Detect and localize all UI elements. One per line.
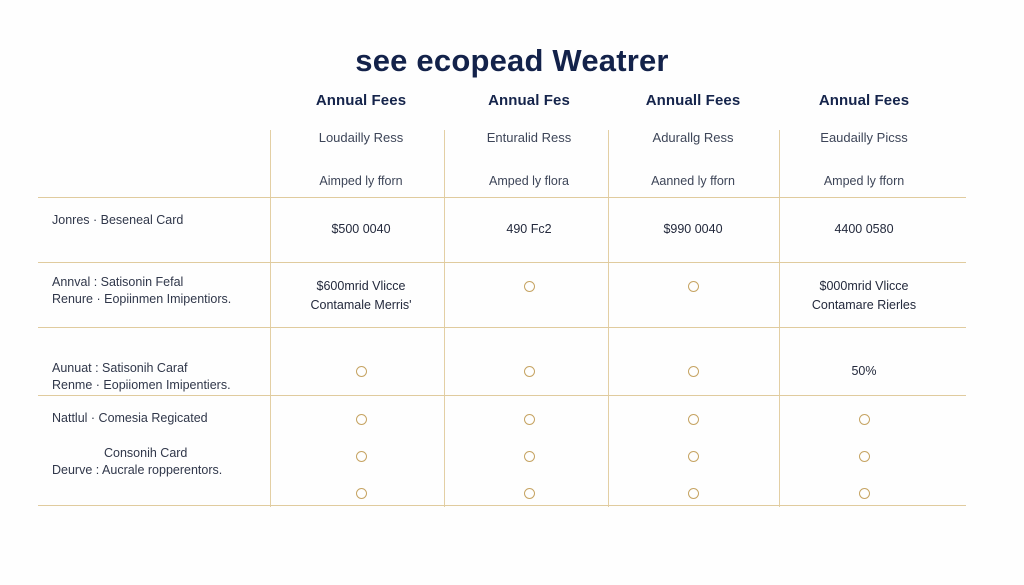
table-cell xyxy=(779,447,949,466)
column-header-subtitle: Eaudailly Picss xyxy=(779,130,949,145)
row-divider-2 xyxy=(38,262,966,263)
circle-marker-icon xyxy=(859,451,870,462)
row-divider-5 xyxy=(38,505,966,506)
row-label-text-line2: Deurve : Aucrale ropperentors. xyxy=(52,462,272,479)
circle-marker-icon xyxy=(356,414,367,425)
table-cell xyxy=(608,484,778,503)
table-cell: $500 0040 xyxy=(276,220,446,239)
row-label-text: Jonres · Beseneal Card xyxy=(52,212,272,229)
table-cell-line1: $000mrid Vlicce xyxy=(779,277,949,296)
column-header-subtitle-secondary: Aanned ly fforn xyxy=(608,174,778,188)
circle-marker-icon xyxy=(688,414,699,425)
column-header-3: Annuall Fees Adurallg Ress Aanned ly ffo… xyxy=(608,92,778,188)
row-label-2: Annval : Satisonin Fefal Renure · Eopiin… xyxy=(52,274,272,308)
column-header-subtitle-secondary: Aimped ly fforn xyxy=(276,174,446,188)
table-cell xyxy=(276,362,446,381)
comparison-table: Annual Fees Loudailly Ress Aimped ly ffo… xyxy=(38,92,966,507)
table-cell: $600mrid Vlicce Contamale Merris' xyxy=(276,277,446,315)
row-divider-1 xyxy=(38,197,966,198)
row-label-3: Aunuat : Satisonih Caraf Renme · Eopiiom… xyxy=(52,360,272,394)
column-header-subtitle: Enturalid Ress xyxy=(444,130,614,145)
column-header-title: Annual Fes xyxy=(444,92,614,109)
table-cell-line2: Contamare Rierles xyxy=(779,296,949,315)
circle-marker-icon xyxy=(356,366,367,377)
row-label-5: Consonih Card Deurve : Aucrale ropperent… xyxy=(52,445,272,479)
column-header-subtitle: Loudailly Ress xyxy=(276,130,446,145)
table-cell-line1: $600mrid Vlicce xyxy=(276,277,446,296)
row-label-text-line1: Annval : Satisonin Fefal xyxy=(52,274,272,291)
circle-marker-icon xyxy=(524,488,535,499)
table-cell xyxy=(444,447,614,466)
circle-marker-icon xyxy=(524,281,535,292)
column-header-2: Annual Fes Enturalid Ress Amped ly flora xyxy=(444,92,614,188)
table-cell: $000mrid Vlicce Contamare Rierles xyxy=(779,277,949,315)
circle-marker-icon xyxy=(688,451,699,462)
table-cell xyxy=(608,277,778,296)
table-cell xyxy=(779,410,949,429)
table-cell: 50% xyxy=(779,362,949,381)
table-cell xyxy=(444,484,614,503)
circle-marker-icon xyxy=(356,488,367,499)
row-divider-3 xyxy=(38,327,966,328)
column-header-title: Annual Fees xyxy=(779,92,949,109)
table-cell xyxy=(444,410,614,429)
circle-marker-icon xyxy=(356,451,367,462)
column-header-subtitle-secondary: Amped ly flora xyxy=(444,174,614,188)
table-cell xyxy=(608,410,778,429)
table-cell-line2: Contamale Merris' xyxy=(276,296,446,315)
row-label-1: Jonres · Beseneal Card xyxy=(52,212,272,229)
table-cell xyxy=(276,484,446,503)
table-cell: $990 0040 xyxy=(608,220,778,239)
column-header-subtitle: Adurallg Ress xyxy=(608,130,778,145)
row-label-text-line1: Consonih Card xyxy=(52,445,272,462)
circle-marker-icon xyxy=(524,414,535,425)
column-header-title: Annual Fees xyxy=(276,92,446,109)
column-header-1: Annual Fees Loudailly Ress Aimped ly ffo… xyxy=(276,92,446,188)
circle-marker-icon xyxy=(859,414,870,425)
circle-marker-icon xyxy=(859,488,870,499)
row-label-text-line1: Aunuat : Satisonih Caraf xyxy=(52,360,272,377)
page-title: see ecopead Weatrer xyxy=(0,43,1024,79)
circle-marker-icon xyxy=(688,281,699,292)
comparison-table-page: see ecopead Weatrer Annual Fees Loudaill… xyxy=(0,0,1024,585)
circle-marker-icon xyxy=(524,451,535,462)
table-cell xyxy=(276,410,446,429)
table-cell: 490 Fc2 xyxy=(444,220,614,239)
table-cell xyxy=(608,447,778,466)
table-cell: 4400 0580 xyxy=(779,220,949,239)
column-header-subtitle-secondary: Amped ly fforn xyxy=(779,174,949,188)
table-cell xyxy=(779,484,949,503)
row-label-4: Nattlul · Comesia Regicated xyxy=(52,410,272,427)
row-divider-4 xyxy=(38,395,966,396)
circle-marker-icon xyxy=(688,366,699,377)
table-cell xyxy=(608,362,778,381)
row-label-text-line2: Renme · Eopiiomen Imipentiers. xyxy=(52,377,272,394)
column-header-title: Annuall Fees xyxy=(608,92,778,109)
column-header-4: Annual Fees Eaudailly Picss Amped ly ffo… xyxy=(779,92,949,188)
row-label-text-line2: Renure · Eopiinmen Imipentiors. xyxy=(52,291,272,308)
table-cell xyxy=(444,277,614,296)
table-cell xyxy=(276,447,446,466)
table-cell xyxy=(444,362,614,381)
circle-marker-icon xyxy=(524,366,535,377)
row-label-text: Nattlul · Comesia Regicated xyxy=(52,410,272,427)
circle-marker-icon xyxy=(688,488,699,499)
